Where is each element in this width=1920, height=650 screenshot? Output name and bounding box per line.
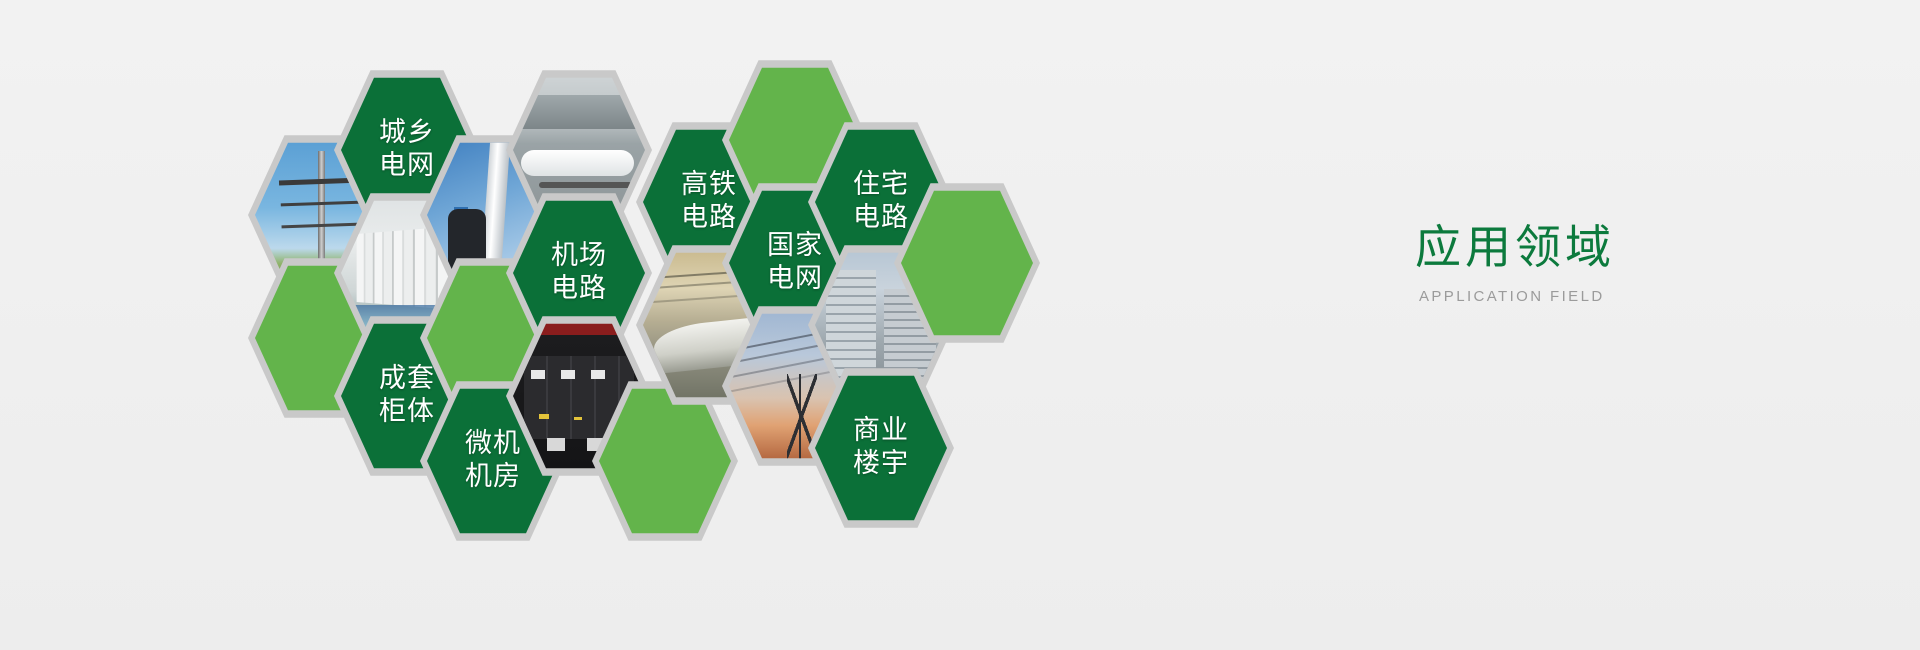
hex-inner: 商业 楼宇 xyxy=(815,372,947,524)
hex-label-state-grid: 国家 电网 xyxy=(767,230,823,296)
hex-inner xyxy=(599,385,731,537)
hex-label-commercial-building: 商业 楼宇 xyxy=(853,415,909,481)
hex-label-residential-circuit: 住宅 电路 xyxy=(853,169,909,235)
hex-label-assembled-cabinet: 成套 柜体 xyxy=(379,363,435,429)
page-subtitle: APPLICATION FIELD xyxy=(1419,288,1835,305)
title-block: 应用领域 APPLICATION FIELD xyxy=(1415,222,1835,305)
page-title: 应用领域 xyxy=(1415,222,1835,274)
hex-inner xyxy=(901,187,1033,339)
hex-label-airport-circuit: 机场 电路 xyxy=(551,240,607,306)
hex-label-highspeed-rail: 高铁 电路 xyxy=(681,169,737,235)
honeycomb-grid: 城乡 电网成套 柜体微机 机房机场 电路高铁 电路国家 电网住宅 电路商业 楼宇 xyxy=(0,0,1330,650)
hex-label-micro-computer-room: 微机 机房 xyxy=(465,428,521,494)
application-field-banner: 城乡 电网成套 柜体微机 机房机场 电路高铁 电路国家 电网住宅 电路商业 楼宇… xyxy=(0,0,1920,650)
hex-label-urban-rural-grid: 城乡 电网 xyxy=(379,117,435,183)
